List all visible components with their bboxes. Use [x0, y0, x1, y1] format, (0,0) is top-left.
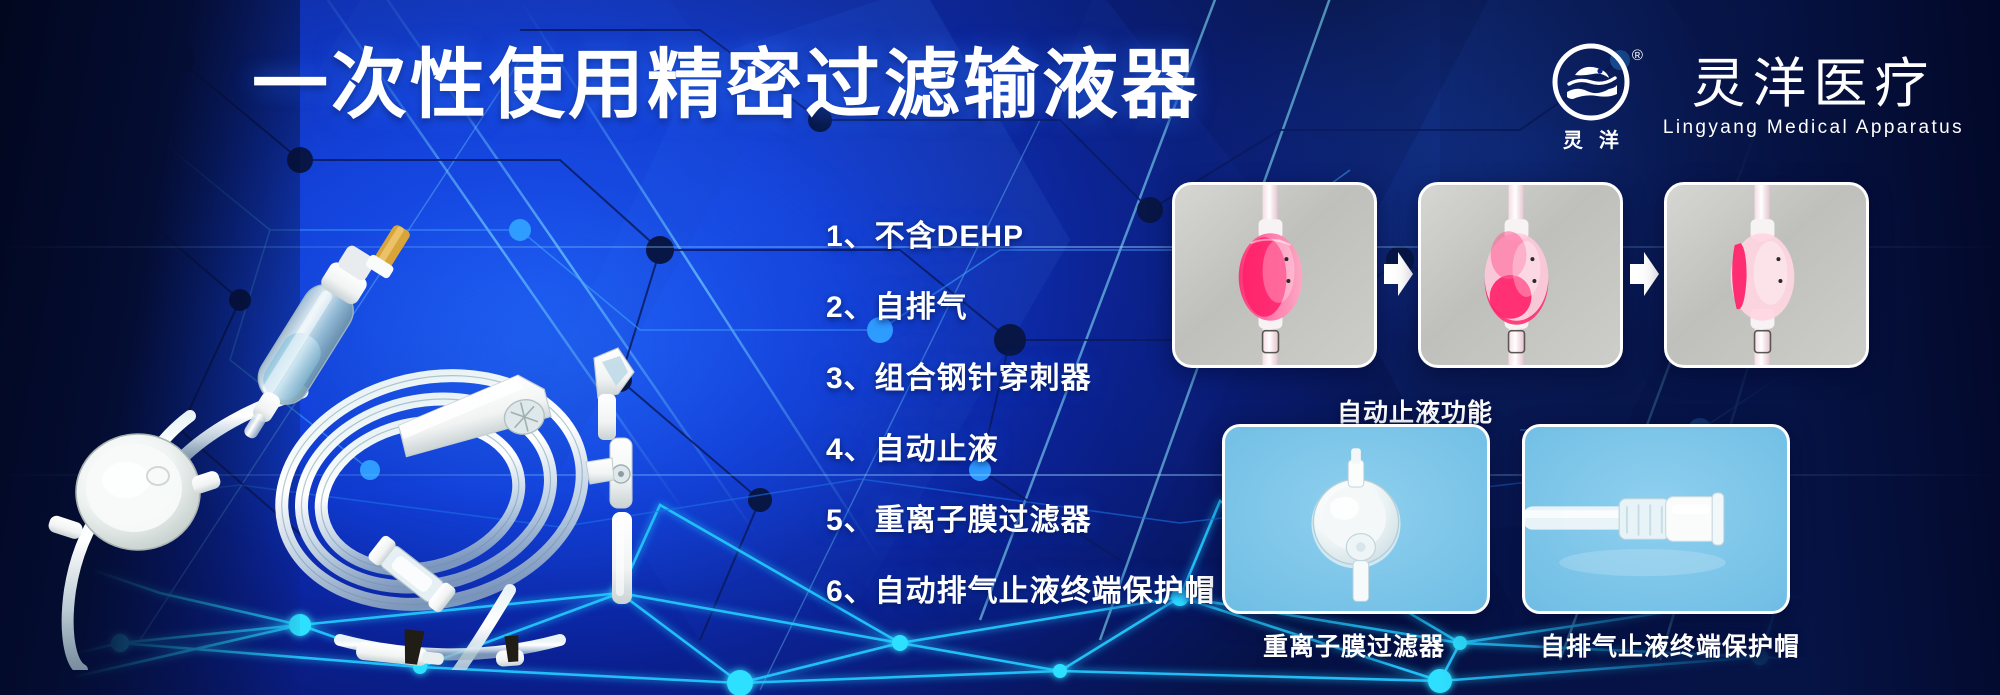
detail-panel-cap: [1522, 424, 1790, 614]
registered-trademark-icon: ®: [1632, 48, 1643, 63]
demo-photo-half: [1421, 185, 1620, 365]
brand-name-en: Lingyang Medical Apparatus: [1663, 117, 1964, 139]
detail-caption-cap: 自排气止液终端保护帽: [1540, 627, 1800, 663]
feature-item-3: 3、组合钢针穿刺器: [826, 362, 1216, 433]
detail-panel-filter: [1222, 424, 1490, 614]
brand-text-block: 灵洋医疗 Lingyang Medical Apparatus: [1663, 56, 1964, 139]
page-title: 一次性使用精密过滤输液器: [252, 48, 1200, 124]
demo-panel-2: [1418, 182, 1623, 368]
detail-photo-cap: [1525, 427, 1787, 611]
demo-photo-empty: [1667, 185, 1866, 365]
demo-panel-1: [1172, 182, 1377, 368]
demo-panel-3: [1664, 182, 1869, 368]
feature-item-5: 5、重离子膜过滤器: [826, 504, 1216, 575]
logo-circle-holder: ®: [1551, 42, 1631, 122]
product-banner: 一次性使用精密过滤输液器 ® 灵洋 灵洋医疗 Lingyang Medical …: [0, 0, 2000, 695]
brand-name-cn: 灵洋医疗: [1663, 56, 1964, 113]
detail-photo-filter: [1225, 427, 1487, 611]
product-photo: [40, 170, 820, 670]
feature-item-1: 1、不含DEHP: [826, 220, 1216, 291]
arrow-right-icon-2: [1626, 248, 1662, 300]
arrow-right-icon-1: [1380, 248, 1416, 300]
wave-emblem-icon: [1551, 42, 1631, 122]
logo-mark: ® 灵洋: [1541, 42, 1641, 153]
feature-item-2: 2、自排气: [826, 291, 1216, 362]
brand-logo: ® 灵洋 灵洋医疗 Lingyang Medical Apparatus: [1541, 42, 1964, 153]
logo-mark-label: 灵洋: [1541, 124, 1641, 153]
demo-photo-full: [1175, 185, 1374, 365]
feature-list: 1、不含DEHP 2、自排气 3、组合钢针穿刺器 4、自动止液 5、重离子膜过滤…: [826, 220, 1216, 646]
feature-item-4: 4、自动止液: [826, 433, 1216, 504]
feature-item-6: 6、自动排气止液终端保护帽: [826, 575, 1216, 646]
detail-caption-filter: 重离子膜过滤器: [1263, 627, 1445, 663]
